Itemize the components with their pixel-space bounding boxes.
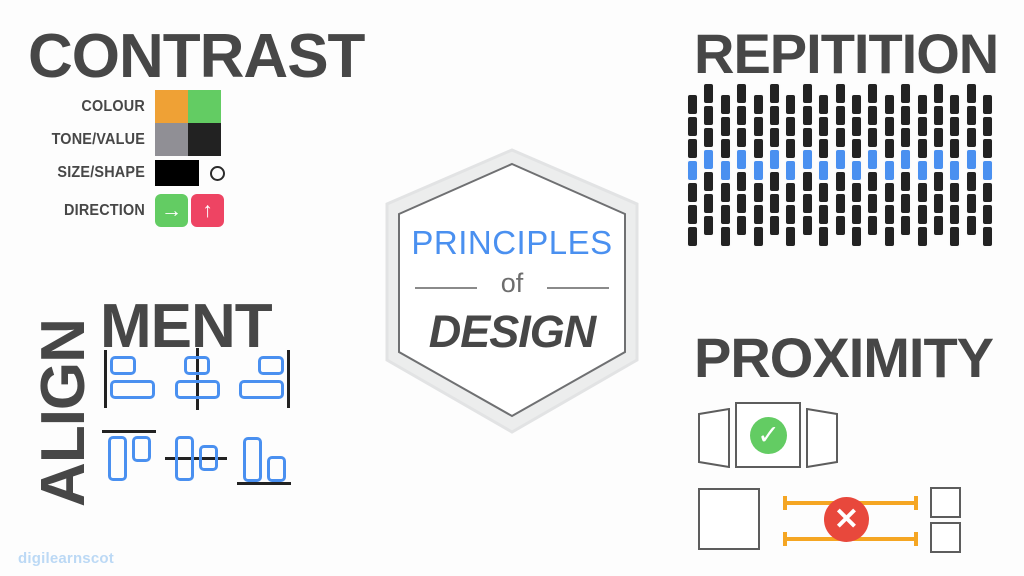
repetition-bar-highlight xyxy=(885,161,894,180)
repetition-bar xyxy=(819,227,828,246)
repetition-bar-highlight xyxy=(950,161,959,180)
align-box-small xyxy=(258,356,284,375)
repetition-bar-highlight xyxy=(704,150,713,169)
repetition-bar xyxy=(819,183,828,202)
repetition-bar xyxy=(688,227,697,246)
repetition-bar xyxy=(754,117,763,136)
repetition-column xyxy=(803,84,812,240)
repetition-bar xyxy=(688,205,697,224)
align-box-small xyxy=(110,356,136,375)
repetition-bar xyxy=(836,84,845,103)
repetition-bar xyxy=(950,205,959,224)
repetition-bar xyxy=(983,95,992,114)
repetition-bar xyxy=(918,117,927,136)
repetition-bar xyxy=(770,128,779,147)
repetition-bar xyxy=(704,84,713,103)
repetition-bar xyxy=(721,205,730,224)
repetition-bar xyxy=(721,139,730,158)
repetition-bar xyxy=(934,216,943,235)
repetition-bar xyxy=(901,194,910,213)
align-left-icon xyxy=(104,354,158,404)
align-rule-horizontal xyxy=(102,430,156,433)
repetition-bar xyxy=(868,128,877,147)
proximity-small-square-top xyxy=(930,487,961,518)
repetition-bar xyxy=(754,139,763,158)
repetition-bar-highlight xyxy=(918,161,927,180)
repetition-bar xyxy=(786,205,795,224)
repetition-bar xyxy=(770,194,779,213)
repetition-bar xyxy=(688,139,697,158)
repetition-bar xyxy=(868,84,877,103)
repetition-bar xyxy=(934,84,943,103)
repetition-bar xyxy=(819,117,828,136)
watermark-digilearnscot: digilearnscot xyxy=(18,550,114,567)
repetition-bar-highlight xyxy=(852,161,861,180)
repetition-bar xyxy=(770,172,779,191)
repetition-bar xyxy=(950,227,959,246)
arrow-up-icon: ↑ xyxy=(191,194,224,227)
repetition-bar xyxy=(737,84,746,103)
repetition-bar xyxy=(786,227,795,246)
repetition-column xyxy=(901,84,910,240)
repetition-column xyxy=(934,84,943,240)
repetition-bar xyxy=(868,106,877,125)
section-title-proximity: PROXIMITY xyxy=(694,330,993,386)
repetition-bar xyxy=(770,84,779,103)
repetition-bar xyxy=(918,205,927,224)
repetition-bar xyxy=(885,139,894,158)
repetition-column xyxy=(983,84,992,240)
align-right-icon xyxy=(239,354,293,404)
align-box-short xyxy=(199,445,218,471)
align-box-short xyxy=(267,456,286,482)
contrast-label-colour: COLOUR xyxy=(33,98,145,116)
repetition-bar xyxy=(885,95,894,114)
repetition-bar xyxy=(934,172,943,191)
repetition-bar xyxy=(950,117,959,136)
repetition-column xyxy=(868,84,877,240)
align-box-tall xyxy=(243,437,262,482)
repetition-bar xyxy=(688,117,697,136)
repetition-bar xyxy=(704,216,713,235)
contrast-swatches-colour xyxy=(155,90,221,123)
repetition-bar xyxy=(868,216,877,235)
align-box-large xyxy=(110,380,155,399)
infographic-canvas: CONTRAST COLOUR TONE/VALUE SIZE/SHAPE DI… xyxy=(0,0,1024,576)
repetition-bar xyxy=(852,139,861,158)
align-middle-vertical-icon xyxy=(171,430,225,486)
repetition-column xyxy=(852,84,861,240)
align-center-horizontal-icon xyxy=(171,354,225,404)
repetition-bar xyxy=(786,139,795,158)
contrast-swatches-direction: → ↑ xyxy=(155,194,224,227)
repetition-bar xyxy=(754,183,763,202)
section-title-contrast: CONTRAST xyxy=(28,26,364,88)
repetition-bar xyxy=(786,117,795,136)
repetition-bar xyxy=(934,128,943,147)
contrast-row-size: SIZE/SHAPE xyxy=(25,160,225,186)
section-title-repitition: REPITITION xyxy=(694,26,998,82)
repetition-bar xyxy=(901,128,910,147)
repetition-bar xyxy=(967,128,976,147)
repetition-bar xyxy=(721,95,730,114)
repetition-bar xyxy=(918,95,927,114)
x-circle-icon: ✕ xyxy=(824,497,869,542)
repetition-bar xyxy=(901,106,910,125)
repetition-bar xyxy=(803,84,812,103)
contrast-row-colour: COLOUR xyxy=(25,90,221,123)
swatch-gray xyxy=(155,123,188,156)
repetition-bar xyxy=(786,183,795,202)
repetition-bar xyxy=(704,128,713,147)
align-top-icon xyxy=(104,430,158,486)
repetition-bar xyxy=(918,183,927,202)
repetition-bar-highlight xyxy=(737,150,746,169)
repetition-bar-highlight xyxy=(819,161,828,180)
repetition-bar xyxy=(704,106,713,125)
align-box-large xyxy=(175,380,220,399)
contrast-label-direction: DIRECTION xyxy=(33,202,145,220)
align-box-short xyxy=(132,436,151,462)
repetition-bar xyxy=(721,227,730,246)
repetition-bar xyxy=(836,128,845,147)
repetition-bar xyxy=(918,227,927,246)
swatch-dark xyxy=(188,123,221,156)
repetition-bar xyxy=(868,172,877,191)
repetition-bar-highlight xyxy=(721,161,730,180)
repetition-bar xyxy=(737,216,746,235)
proximity-diagram: ✓ ✕ xyxy=(690,400,1010,560)
repetition-bar xyxy=(934,106,943,125)
repetition-bar xyxy=(819,95,828,114)
repetition-bar xyxy=(983,183,992,202)
repetition-bar xyxy=(819,205,828,224)
repetition-bar xyxy=(754,205,763,224)
repetition-bar xyxy=(819,139,828,158)
align-rule-vertical xyxy=(287,350,290,408)
repetition-bar xyxy=(918,139,927,158)
circle-shape xyxy=(210,166,225,181)
repetition-column xyxy=(754,84,763,240)
repetition-bar xyxy=(950,139,959,158)
repetition-bar xyxy=(754,95,763,114)
contrast-row-tone: TONE/VALUE xyxy=(25,123,221,156)
repetition-bar-highlight xyxy=(786,161,795,180)
repetition-column xyxy=(786,84,795,240)
repetition-bar xyxy=(754,227,763,246)
align-box-tall xyxy=(108,436,127,481)
repetition-bar xyxy=(704,194,713,213)
repetition-bar xyxy=(836,106,845,125)
repetition-bar xyxy=(967,216,976,235)
repetition-bar xyxy=(786,95,795,114)
align-bottom-icon xyxy=(239,430,293,486)
align-box-tall xyxy=(175,436,194,481)
repetition-bar-highlight xyxy=(770,150,779,169)
proximity-large-square xyxy=(698,488,760,550)
repetition-bar xyxy=(688,95,697,114)
repetition-bar xyxy=(721,183,730,202)
repetition-bar xyxy=(983,205,992,224)
proximity-panel-left xyxy=(698,408,730,468)
repetition-bar xyxy=(852,227,861,246)
repetition-pattern xyxy=(688,84,1000,240)
repetition-bar xyxy=(967,84,976,103)
swatch-green xyxy=(188,90,221,123)
align-rule-horizontal xyxy=(237,482,291,485)
repetition-bar xyxy=(967,106,976,125)
repetition-bar xyxy=(885,205,894,224)
repetition-column xyxy=(819,84,828,240)
repetition-bar-highlight xyxy=(967,150,976,169)
repetition-bar xyxy=(967,194,976,213)
contrast-label-size: SIZE/SHAPE xyxy=(33,164,145,182)
repetition-bar xyxy=(803,194,812,213)
repetition-bar xyxy=(836,172,845,191)
repetition-bar xyxy=(721,117,730,136)
repetition-bar xyxy=(852,117,861,136)
principles-of-design-badge: PRINCIPLES of DESIGN xyxy=(379,146,645,436)
repetition-bar xyxy=(803,216,812,235)
repetition-bar xyxy=(803,106,812,125)
repetition-column xyxy=(770,84,779,240)
align-box-small xyxy=(184,356,210,375)
repetition-bar xyxy=(836,194,845,213)
proximity-panel-right xyxy=(806,408,838,468)
repetition-bar xyxy=(885,227,894,246)
repetition-bar xyxy=(934,194,943,213)
repetition-bar xyxy=(737,128,746,147)
repetition-bar xyxy=(983,227,992,246)
repetition-bar xyxy=(737,106,746,125)
repetition-bar xyxy=(868,194,877,213)
contrast-swatches-size xyxy=(155,160,225,186)
repetition-bar xyxy=(803,128,812,147)
repetition-bar xyxy=(885,183,894,202)
section-title-alignment-inline: MENT xyxy=(100,296,272,358)
repetition-bar xyxy=(885,117,894,136)
repetition-bar xyxy=(901,172,910,191)
badge-line-design: DESIGN xyxy=(379,306,645,358)
repetition-bar xyxy=(688,183,697,202)
repetition-column xyxy=(885,84,894,240)
repetition-bar xyxy=(803,172,812,191)
repetition-bar xyxy=(950,95,959,114)
repetition-bar xyxy=(737,194,746,213)
contrast-label-tone: TONE/VALUE xyxy=(33,131,145,149)
repetition-column xyxy=(704,84,713,240)
contrast-row-direction: DIRECTION → ↑ xyxy=(25,194,224,227)
repetition-column xyxy=(918,84,927,240)
repetition-column xyxy=(950,84,959,240)
square-shape xyxy=(155,160,199,186)
repetition-column xyxy=(688,84,697,240)
repetition-bar-highlight xyxy=(901,150,910,169)
repetition-column xyxy=(721,84,730,240)
repetition-column xyxy=(737,84,746,240)
repetition-bar xyxy=(983,117,992,136)
swatch-orange xyxy=(155,90,188,123)
repetition-bar xyxy=(852,95,861,114)
repetition-bar xyxy=(836,216,845,235)
repetition-bar-highlight xyxy=(868,150,877,169)
repetition-bar xyxy=(901,84,910,103)
section-title-align-rotated: ALIGN xyxy=(33,313,95,513)
repetition-bar xyxy=(852,205,861,224)
measure-cap-right-bottom xyxy=(914,532,918,546)
repetition-column xyxy=(836,84,845,240)
repetition-bar xyxy=(704,172,713,191)
repetition-bar-highlight xyxy=(836,150,845,169)
repetition-bar xyxy=(770,106,779,125)
repetition-bar xyxy=(770,216,779,235)
contrast-swatches-tone xyxy=(155,123,221,156)
repetition-bar-highlight xyxy=(754,161,763,180)
proximity-small-square-bottom xyxy=(930,522,961,553)
repetition-bar xyxy=(737,172,746,191)
badge-line-of: of xyxy=(379,268,645,299)
badge-line-principles: PRINCIPLES xyxy=(379,224,645,262)
repetition-column xyxy=(967,84,976,240)
repetition-bar xyxy=(983,139,992,158)
repetition-bar xyxy=(901,216,910,235)
alignment-icon-set xyxy=(104,354,284,494)
check-circle-icon: ✓ xyxy=(750,417,787,454)
arrow-right-icon: → xyxy=(155,194,188,227)
align-box-large xyxy=(239,380,284,399)
repetition-bar xyxy=(852,183,861,202)
repetition-bar xyxy=(967,172,976,191)
repetition-bar-highlight xyxy=(803,150,812,169)
measure-cap-right-top xyxy=(914,496,918,510)
repetition-bar xyxy=(950,183,959,202)
repetition-bar-highlight xyxy=(934,150,943,169)
align-rule-vertical xyxy=(104,350,107,408)
repetition-bar-highlight xyxy=(688,161,697,180)
repetition-bar-highlight xyxy=(983,161,992,180)
